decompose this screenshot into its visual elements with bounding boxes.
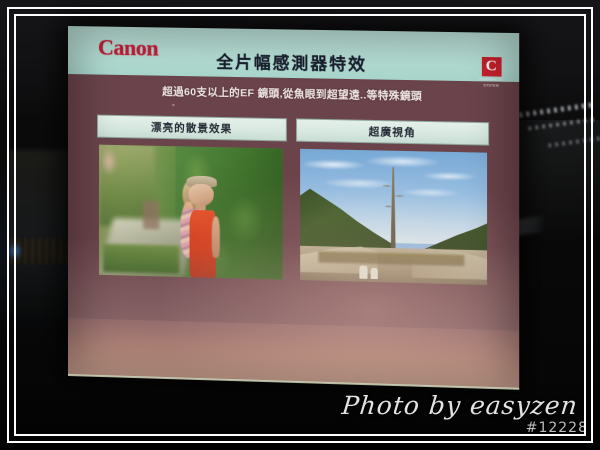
projector-room-photo: Canon 全片幅感測器特效 C CINEMA EOS SYSTEM 超過60支…	[0, 0, 600, 450]
panel-media-row	[68, 144, 519, 286]
projector-color-cast	[99, 145, 283, 280]
projection-screen: Canon 全片幅感測器特效 C CINEMA EOS SYSTEM 超過60支…	[68, 26, 519, 390]
cinema-eos-badge: C CINEMA EOS SYSTEM	[476, 57, 507, 89]
slide-header-band: Canon 全片幅感測器特效 C CINEMA EOS SYSTEM	[68, 26, 519, 82]
blue-indicator-light	[8, 242, 22, 260]
slide-title: 全片幅感測器特效	[68, 46, 519, 78]
left-wall	[8, 150, 70, 315]
wide-angle-landscape-photo	[300, 149, 487, 285]
panel-label-wide-angle: 超廣視角	[296, 118, 489, 145]
bokeh-photo-content	[99, 145, 283, 280]
presentation-slide: Canon 全片幅感測器特效 C CINEMA EOS SYSTEM 超過60支…	[68, 26, 519, 331]
projector-color-cast	[300, 149, 487, 285]
landscape-photo-content	[300, 149, 487, 285]
panel-label-bokeh: 漂亮的散景效果	[97, 115, 287, 142]
watermark-text: Photo by easyzen	[341, 391, 580, 420]
badge-caption-line2: SYSTEM	[476, 83, 507, 88]
stray-dot-artifact	[172, 104, 174, 106]
badge-letter-c: C	[481, 57, 501, 77]
bokeh-portrait-photo	[99, 145, 283, 280]
badge-caption-line1: CINEMA EOS	[476, 77, 507, 82]
ceiling-light-strip	[548, 136, 600, 147]
watermark-id: #12228	[526, 420, 588, 436]
